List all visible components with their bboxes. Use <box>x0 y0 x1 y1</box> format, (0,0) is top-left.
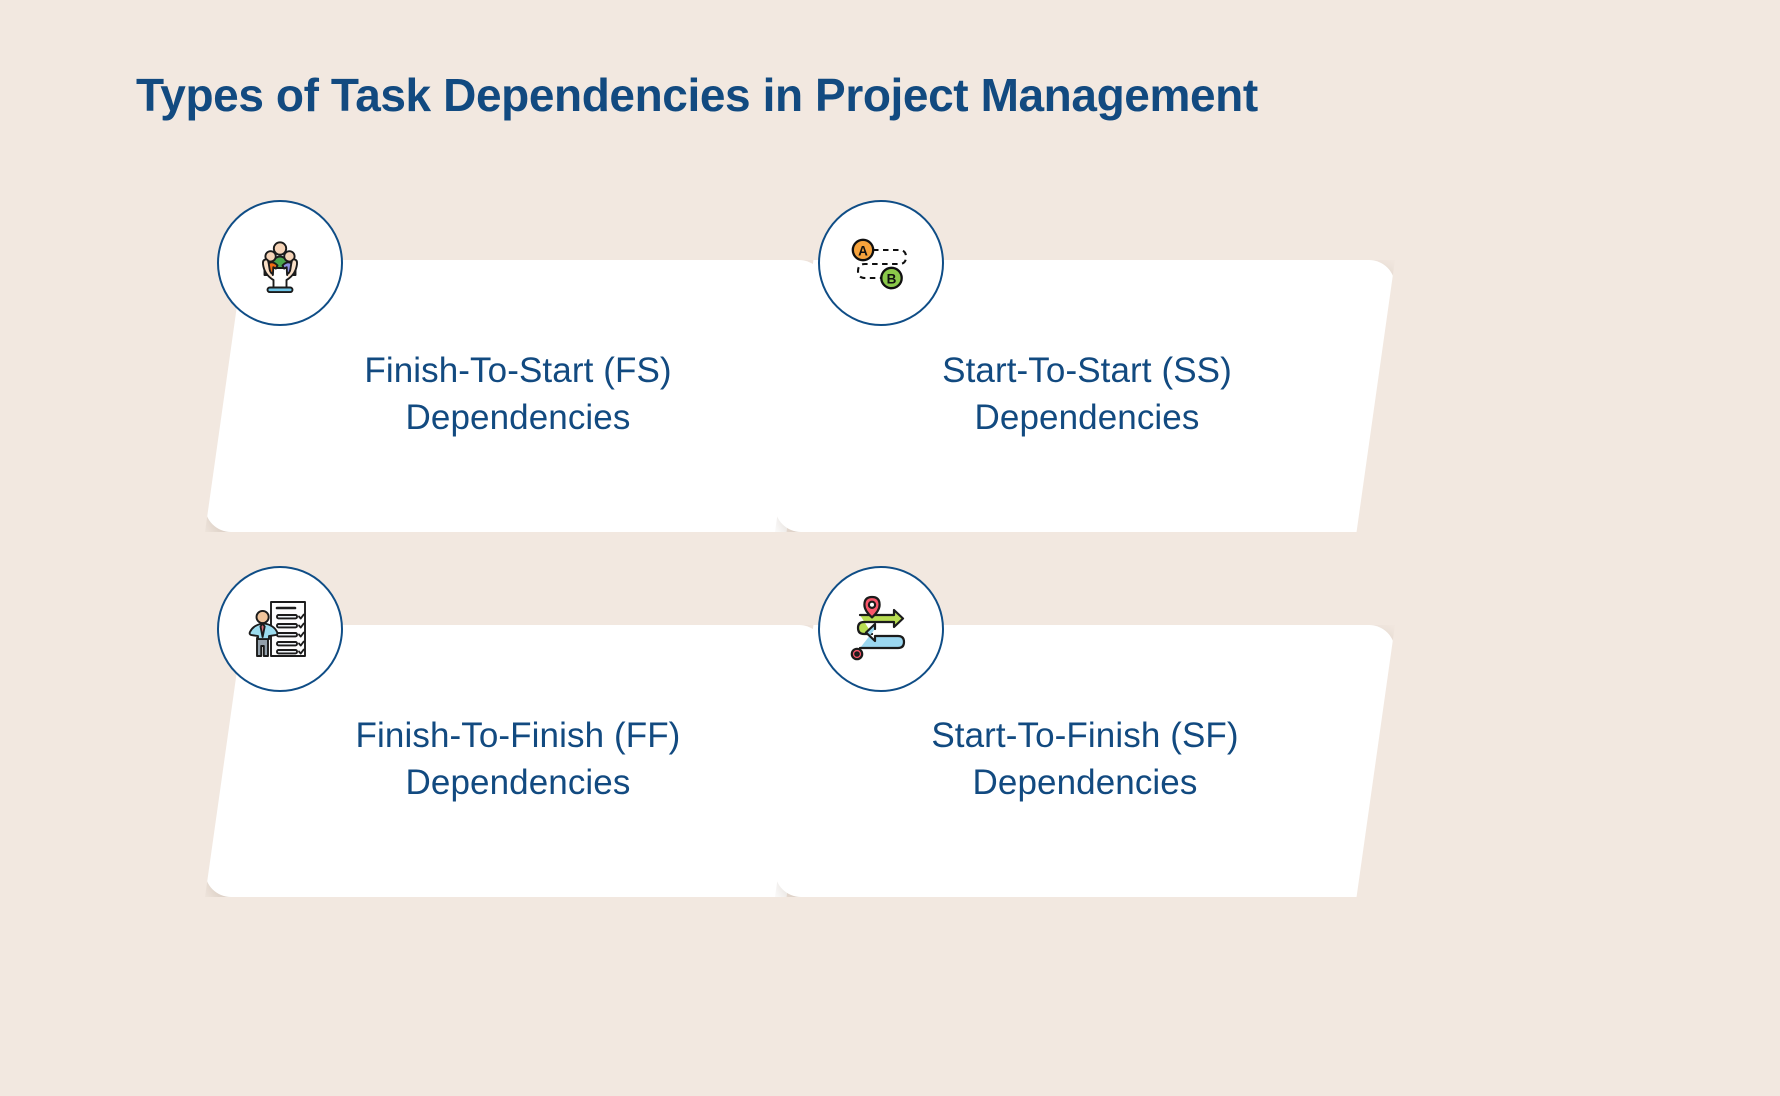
card-title-line-2: Dependencies <box>779 395 1395 442</box>
card-label-start-to-finish: Start-To-Finish (SF) Dependencies <box>775 713 1395 807</box>
icon-badge-start-to-start[interactable]: A B <box>818 200 944 326</box>
node-b-label: B <box>887 271 897 286</box>
hands-holding-team-icon <box>244 227 316 299</box>
card-title-line-1: Finish-To-Start (FS) <box>211 348 825 395</box>
map-pin-hole <box>869 602 875 608</box>
card-label-finish-to-start: Finish-To-Start (FS) Dependencies <box>205 348 825 442</box>
icon-badge-start-to-finish[interactable] <box>818 566 944 692</box>
forward-route-arrow <box>858 610 903 634</box>
card-title-line-2: Dependencies <box>211 395 825 442</box>
person-checklist-icon <box>243 592 317 666</box>
task-a-to-b-flow-icon: A B <box>843 232 919 294</box>
page-title: Types of Task Dependencies in Project Ma… <box>136 68 1676 123</box>
card-title-line-2: Dependencies <box>775 760 1395 807</box>
card-title-line-1: Finish-To-Finish (FF) <box>211 713 825 760</box>
card-title-line-1: Start-To-Start (SS) <box>779 348 1395 395</box>
card-title-line-2: Dependencies <box>211 760 825 807</box>
infographic-canvas: Types of Task Dependencies in Project Ma… <box>0 0 1780 1096</box>
node-a-label: A <box>858 243 868 258</box>
card-label-finish-to-finish: Finish-To-Finish (FF) Dependencies <box>205 713 825 807</box>
icon-badge-finish-to-finish[interactable] <box>217 566 343 692</box>
start-marker-dot <box>855 652 858 655</box>
icon-badge-finish-to-start[interactable] <box>217 200 343 326</box>
card-title-line-1: Start-To-Finish (SF) <box>775 713 1395 760</box>
winding-route-arrows-icon <box>842 593 920 665</box>
card-label-start-to-start: Start-To-Start (SS) Dependencies <box>775 348 1395 442</box>
